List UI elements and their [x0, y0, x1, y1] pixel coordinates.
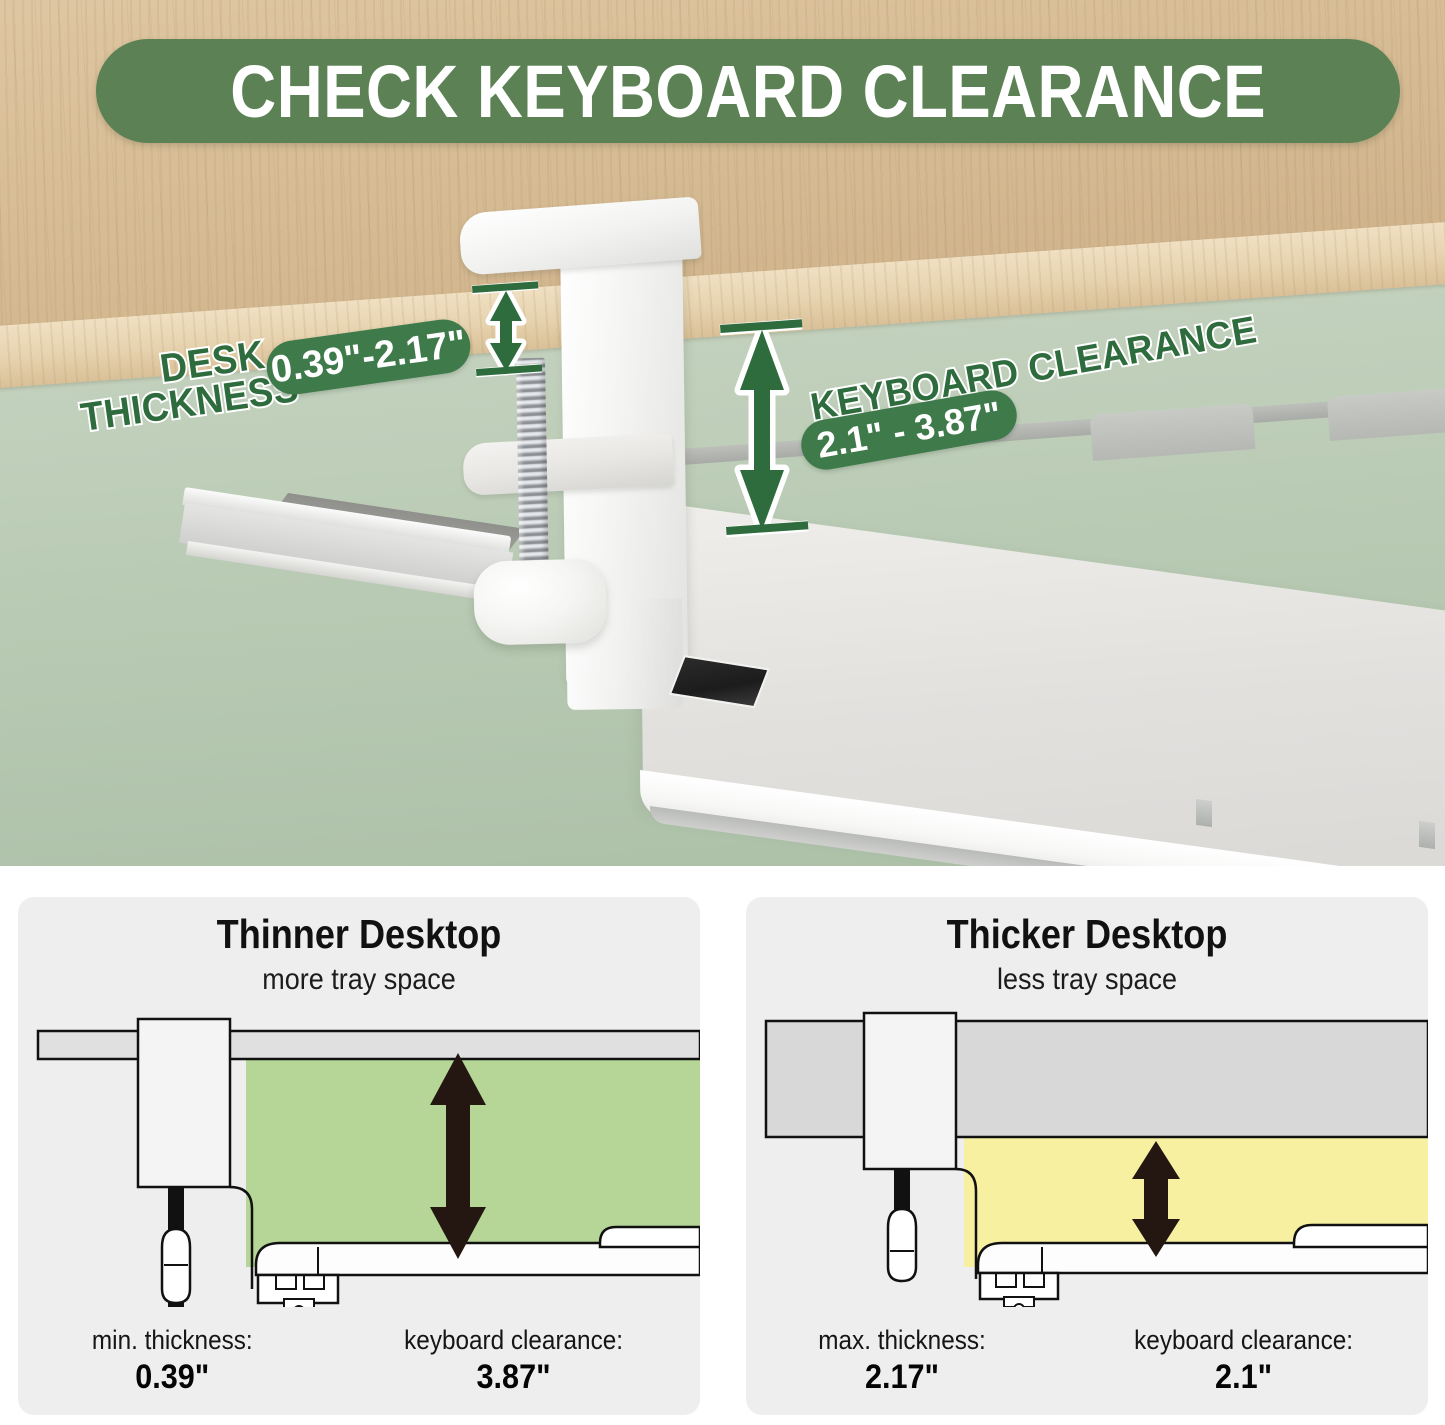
panel-thicker-desktop: Thicker Desktop less tray space — [746, 897, 1428, 1415]
clamp-lower-jaw — [462, 433, 674, 496]
page-title-banner: CHECK KEYBOARD CLEARANCE — [96, 39, 1400, 143]
thinner-desktop-captions: min. thickness: 0.39" keyboard clearance… — [18, 1325, 700, 1397]
panel-title: Thinner Desktop — [59, 911, 659, 958]
thicker-desktop-captions: max. thickness: 2.17" keyboard clearance… — [746, 1325, 1428, 1397]
caption-min-thickness: min. thickness: 0.39" — [83, 1325, 262, 1397]
clamp-screw-rod — [516, 358, 549, 588]
caption-keyboard-clearance: keyboard clearance: 2.1" — [1122, 1325, 1365, 1397]
caption-value: 2.1" — [1134, 1358, 1353, 1397]
tray-foot — [1196, 799, 1212, 827]
thicker-desktop-diagram — [746, 1007, 1428, 1297]
caption-label: min. thickness: — [92, 1325, 253, 1356]
panel-subtitle: less tray space — [780, 963, 1394, 997]
page-title: CHECK KEYBOARD CLEARANCE — [230, 49, 1266, 134]
caption-value: 0.39" — [92, 1358, 253, 1397]
desk-thickness-arrow-icon — [466, 281, 546, 379]
panel-title: Thicker Desktop — [787, 911, 1387, 958]
caption-value: 3.87" — [404, 1358, 623, 1397]
thinner-desktop-diagram — [18, 1007, 700, 1297]
caption-value: 2.17" — [818, 1358, 985, 1397]
caption-label: keyboard clearance: — [404, 1325, 623, 1356]
caption-label: max. thickness: — [818, 1325, 985, 1356]
caption-label: keyboard clearance: — [1134, 1325, 1353, 1356]
panel-thinner-desktop: Thinner Desktop more tray space — [18, 897, 700, 1415]
hero-illustration: DESK THICKNESS 0.39"-2.17" KEYBOARD CLEA… — [0, 0, 1445, 866]
clamp-knob — [473, 558, 607, 645]
tray-foot — [1419, 821, 1435, 849]
caption-keyboard-clearance: keyboard clearance: 3.87" — [392, 1325, 635, 1397]
keyboard-clearance-arrow-icon — [710, 318, 814, 540]
caption-max-thickness: max. thickness: 2.17" — [809, 1325, 995, 1397]
panel-subtitle: more tray space — [52, 963, 666, 997]
